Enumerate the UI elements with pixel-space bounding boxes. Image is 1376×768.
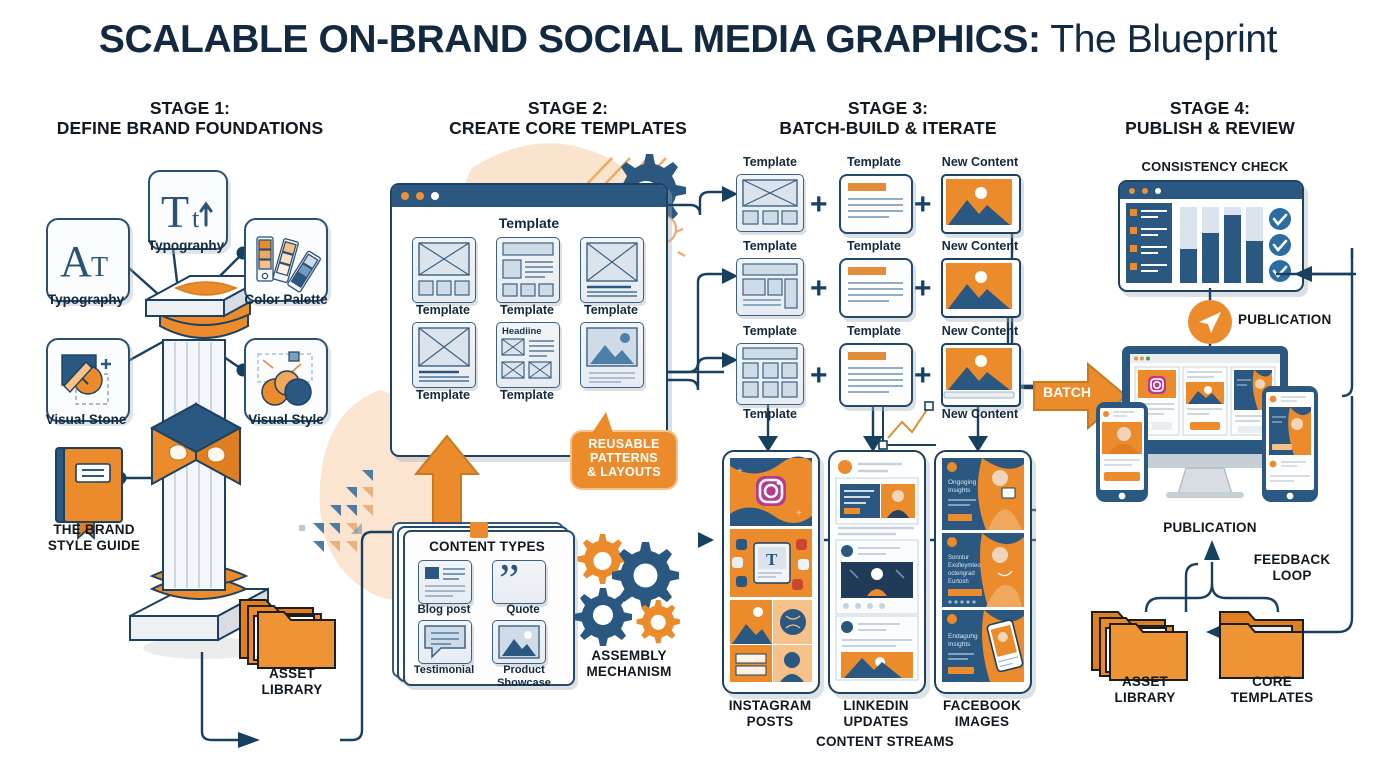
window-titlebar: [392, 185, 666, 207]
brand-style-guide-book[interactable]: [50, 444, 136, 530]
row2-new-content-label: New Content: [930, 239, 1030, 254]
publication-devices[interactable]: [1094, 344, 1324, 516]
row1-template-card-b[interactable]: [839, 174, 913, 234]
window-dot-white: [431, 192, 439, 200]
stage-name-1: DEFINE BRAND FOUNDATIONS: [57, 118, 324, 138]
row3-bottom-new-content-label: New Content: [930, 407, 1030, 422]
template-label-5: Template: [488, 388, 566, 403]
stage-number-3: STAGE 3:: [768, 98, 1008, 118]
row3-template-card-a[interactable]: [736, 343, 804, 405]
row3-plus-1: +: [810, 361, 828, 391]
template-label-4: Template: [404, 388, 482, 403]
label-typography-left: Typography: [16, 292, 156, 308]
svg-text:Sonntur: Sonntur: [948, 555, 969, 561]
typography-a-t-icon: A T: [58, 236, 118, 284]
svg-text:Insights: Insights: [948, 487, 971, 494]
label-publication-badge: PUBLICATION: [1238, 312, 1358, 328]
instagram-card-2: T: [730, 529, 812, 597]
instagram-posts-phone[interactable]: + + T: [722, 450, 820, 694]
template-card-3[interactable]: [580, 237, 644, 303]
stage-heading-2: STAGE 2: CREATE CORE TEMPLATES: [418, 98, 718, 138]
row3-new-content-card[interactable]: [941, 343, 1021, 407]
label-feedback-loop: FEEDBACK LOOP: [1230, 552, 1354, 584]
svg-text:Eurtosh: Eurtosh: [948, 579, 969, 585]
label-asset-library-stage4: ASSET LIBRARY: [1080, 674, 1210, 706]
row2-template-card-a[interactable]: [736, 258, 804, 316]
row1-new-content-label: New Content: [930, 155, 1030, 170]
visual-style-circles-icon: [253, 350, 319, 410]
content-type-tile-quote[interactable]: ”: [492, 560, 546, 604]
row3-plus-2: +: [914, 361, 932, 391]
template-card-5-headline[interactable]: Headiine: [496, 322, 560, 388]
svg-text:Exsfleymteo: Exsfleymteo: [948, 563, 981, 569]
color-palette-fan-icon: [253, 231, 319, 289]
asset-library-folders-stage4[interactable]: [1088, 598, 1200, 682]
row1-template-card-a[interactable]: [736, 174, 804, 232]
label-consistency-check: CONSISTENCY CHECK: [1100, 159, 1330, 175]
linkedin-updates-phone[interactable]: [828, 450, 926, 694]
page-title: SCALABLE ON-BRAND SOCIAL MEDIA GRAPHICS:…: [0, 18, 1376, 62]
svg-text:Endaguhg: Endaguhg: [948, 633, 978, 640]
publication-plane-badge[interactable]: [1188, 300, 1232, 344]
label-facebook-images: FACEBOOK IMAGES: [918, 698, 1046, 730]
consistency-window-titlebar: [1120, 182, 1302, 199]
template-label-3: Template: [572, 303, 650, 318]
facebook-card-2: Sonntur Exsfleymteo octengrad Eurtosh: [942, 533, 1024, 607]
row2-template-card-b[interactable]: [839, 258, 913, 318]
row3-bottom-template-label: Template: [728, 407, 812, 422]
paper-plane-icon: [1197, 309, 1223, 335]
svg-text:T: T: [91, 252, 108, 283]
svg-text:+: +: [796, 508, 802, 519]
stage-number-1: STAGE 1:: [40, 98, 340, 118]
content-types-paper-stack[interactable]: CONTENT TYPES ” Blog post Quote: [392, 522, 572, 682]
svg-text:Insights: Insights: [948, 641, 971, 648]
content-type-label-blog-post: Blog post: [403, 604, 485, 618]
row1-plus-2: +: [914, 190, 932, 220]
batch-label: BATCH: [1038, 384, 1096, 400]
label-core-templates: CORE TEMPLATES: [1202, 674, 1342, 706]
row2-plus-1: +: [810, 274, 828, 304]
consistency-dot-orange: [1129, 188, 1135, 194]
row3-template-b-label: Template: [832, 324, 916, 339]
stage-heading-4: STAGE 4: PUBLISH & REVIEW: [1090, 98, 1330, 138]
facebook-card-1: Ongoging Insights: [942, 458, 1024, 530]
check-circles: [1269, 208, 1291, 282]
svg-text:T: T: [766, 550, 778, 569]
label-brand-style-guide: THE BRAND STYLE GUIDE: [6, 522, 182, 554]
label-publication: PUBLICATION: [1130, 520, 1290, 536]
icon-tile-color-palette[interactable]: [244, 218, 328, 302]
row2-plus-2: +: [914, 274, 932, 304]
paper-clip: [470, 522, 488, 538]
linkedin-card-2: [836, 540, 918, 614]
row1-template-b-label: Template: [832, 155, 916, 170]
label-color-palette: Color Palette: [218, 292, 354, 308]
label-content-streams: CONTENT STREAMS: [760, 734, 1010, 750]
content-type-tile-blog-post[interactable]: [418, 560, 472, 604]
svg-text:t: t: [192, 204, 200, 233]
template-label-2: Template: [488, 303, 566, 318]
template-label-1: Template: [404, 303, 482, 318]
callout-tail: [588, 412, 618, 438]
up-arrow-to-templates: [412, 434, 482, 534]
row1-plus-1: +: [810, 190, 828, 220]
row3-template-a-label: Template: [728, 324, 812, 339]
label-visual-style: Visual Style: [218, 412, 354, 428]
template-card-6-image[interactable]: [580, 322, 644, 388]
row2-template-b-label: Template: [832, 239, 916, 254]
template-headline-text: Headiine: [502, 326, 542, 337]
stage-number-2: STAGE 2:: [418, 98, 718, 118]
stage-number-4: STAGE 4:: [1090, 98, 1330, 118]
content-type-label-testimonial: Testimonial: [399, 664, 489, 677]
label-asset-library-stage1: ASSET LIBRARY: [222, 666, 362, 698]
svg-text:Ongoging: Ongoging: [948, 479, 977, 486]
row1-new-content-card[interactable]: [941, 174, 1021, 234]
page-title-light: The Blueprint: [1041, 18, 1278, 61]
content-types-title: CONTENT TYPES: [403, 539, 571, 555]
linkedin-card-1: [836, 478, 918, 524]
label-typography-top: Typography: [120, 238, 252, 254]
feedback-arrow-to-consistency: [1290, 258, 1360, 288]
template-card-1[interactable]: [412, 237, 476, 303]
window-dot-orange-2: [416, 192, 424, 200]
stage-heading-3: STAGE 3: BATCH-BUILD & ITERATE: [768, 98, 1008, 138]
label-visual-stone: Visual Stone: [16, 412, 156, 428]
stage-name-2: CREATE CORE TEMPLATES: [449, 118, 687, 138]
svg-text:”: ”: [499, 554, 519, 605]
svg-text:+: +: [737, 466, 743, 477]
icon-tile-typography-a-t[interactable]: A T: [46, 218, 130, 302]
consistency-dot-white: [1155, 188, 1161, 194]
facebook-card-3: Endaguhg Insights: [942, 610, 1024, 682]
content-type-label-product-showcase: Product Showcase: [484, 664, 564, 689]
svg-text:T: T: [161, 186, 189, 237]
template-grid-title: Template: [392, 215, 666, 232]
instagram-card-3: [730, 600, 812, 682]
template-card-4[interactable]: [412, 322, 476, 388]
row3-new-content-label: New Content: [930, 324, 1030, 339]
facebook-images-phone[interactable]: Ongoging Insights Sonntur Exsfleymteo oc…: [934, 450, 1032, 694]
consistency-dot-orange-2: [1142, 188, 1148, 194]
visual-stone-icon: [56, 350, 120, 410]
row3-template-card-b[interactable]: [839, 343, 913, 407]
instagram-card-1: + +: [730, 458, 812, 526]
icon-tile-visual-stone[interactable]: [46, 338, 130, 422]
stage-name-4: PUBLISH & REVIEW: [1125, 118, 1295, 138]
template-card-2[interactable]: [496, 237, 560, 303]
row2-new-content-card[interactable]: [941, 258, 1021, 318]
typography-t-arrow-icon: T t: [159, 185, 217, 235]
asset-library-folders-stage1[interactable]: [236, 586, 346, 668]
template-browser-window[interactable]: Template: [390, 183, 668, 457]
page-title-bold: SCALABLE ON-BRAND SOCIAL MEDIA GRAPHICS:: [99, 18, 1041, 61]
svg-text:octengrad: octengrad: [948, 571, 975, 577]
stage-name-3: BATCH-BUILD & ITERATE: [779, 118, 996, 138]
row1-template-a-label: Template: [728, 155, 812, 170]
content-type-label-quote: Quote: [482, 604, 564, 618]
content-type-tile-testimonial[interactable]: [418, 620, 472, 664]
consistency-dashboard: [1120, 199, 1298, 287]
icon-tile-visual-style[interactable]: [244, 338, 328, 422]
linkedin-header: [836, 458, 918, 476]
svg-text:A: A: [60, 237, 92, 286]
stage-heading-1: STAGE 1: DEFINE BRAND FOUNDATIONS: [40, 98, 340, 138]
consistency-check-window[interactable]: [1118, 180, 1304, 292]
core-templates-folder[interactable]: [1214, 598, 1322, 682]
row2-template-a-label: Template: [728, 239, 812, 254]
content-type-tile-product-showcase[interactable]: [492, 620, 546, 664]
window-dot-orange: [401, 192, 409, 200]
linkedin-card-3: [836, 616, 918, 680]
linkedin-text-lines: [836, 524, 918, 538]
